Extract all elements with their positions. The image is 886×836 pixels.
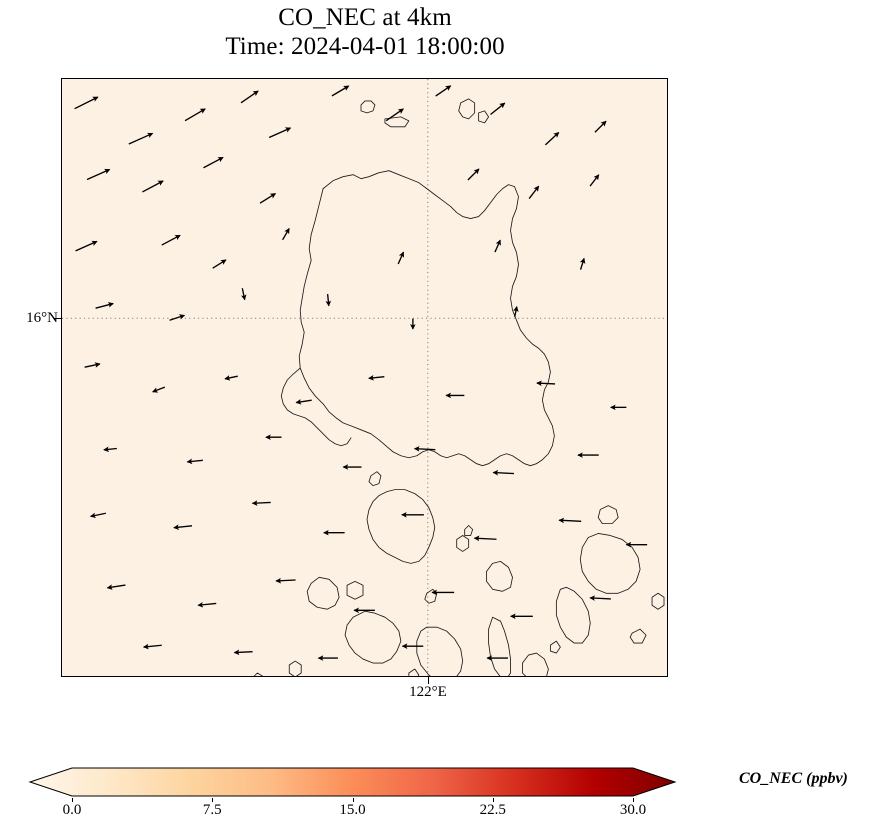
y-axis-tick-group: 16°N	[0, 309, 58, 327]
colorbar-gradient-bar	[30, 768, 675, 796]
colorbar-label: CO_NEC (ppbv)	[739, 770, 848, 788]
wind-vector-arrow	[253, 502, 271, 503]
colorbar-tick-group: 0.07.515.022.530.0	[30, 798, 675, 828]
scalar-field	[62, 79, 667, 676]
x-tick-mark	[428, 677, 429, 684]
title-line-variable: CO_NEC at 4km	[61, 4, 669, 33]
colorbar-tick-label: 22.5	[480, 802, 506, 819]
figure-title: CO_NEC at 4km Time: 2024-04-01 18:00:00	[61, 4, 669, 61]
title-line-time: Time: 2024-04-01 18:00:00	[61, 33, 669, 62]
map-plot-area[interactable]	[61, 78, 668, 677]
colorbar-tick-label: 0.0	[63, 802, 82, 819]
wind-vector-arrow	[537, 383, 555, 384]
x-tick-label-122e: 122°E	[409, 684, 447, 700]
colorbar-tick-label: 7.5	[203, 802, 222, 819]
wind-vector-arrow	[234, 652, 252, 653]
map-canvas	[62, 79, 667, 676]
y-tick-mark	[54, 318, 61, 319]
colorbar[interactable]	[30, 766, 675, 798]
figure-canvas: CO_NEC at 4km Time: 2024-04-01 18:00:00	[0, 0, 886, 836]
colorbar-canvas	[30, 766, 675, 798]
x-axis-tick-group: 122°E	[368, 683, 488, 701]
colorbar-tick-label: 30.0	[620, 802, 646, 819]
colorbar-tick-label: 15.0	[339, 802, 365, 819]
